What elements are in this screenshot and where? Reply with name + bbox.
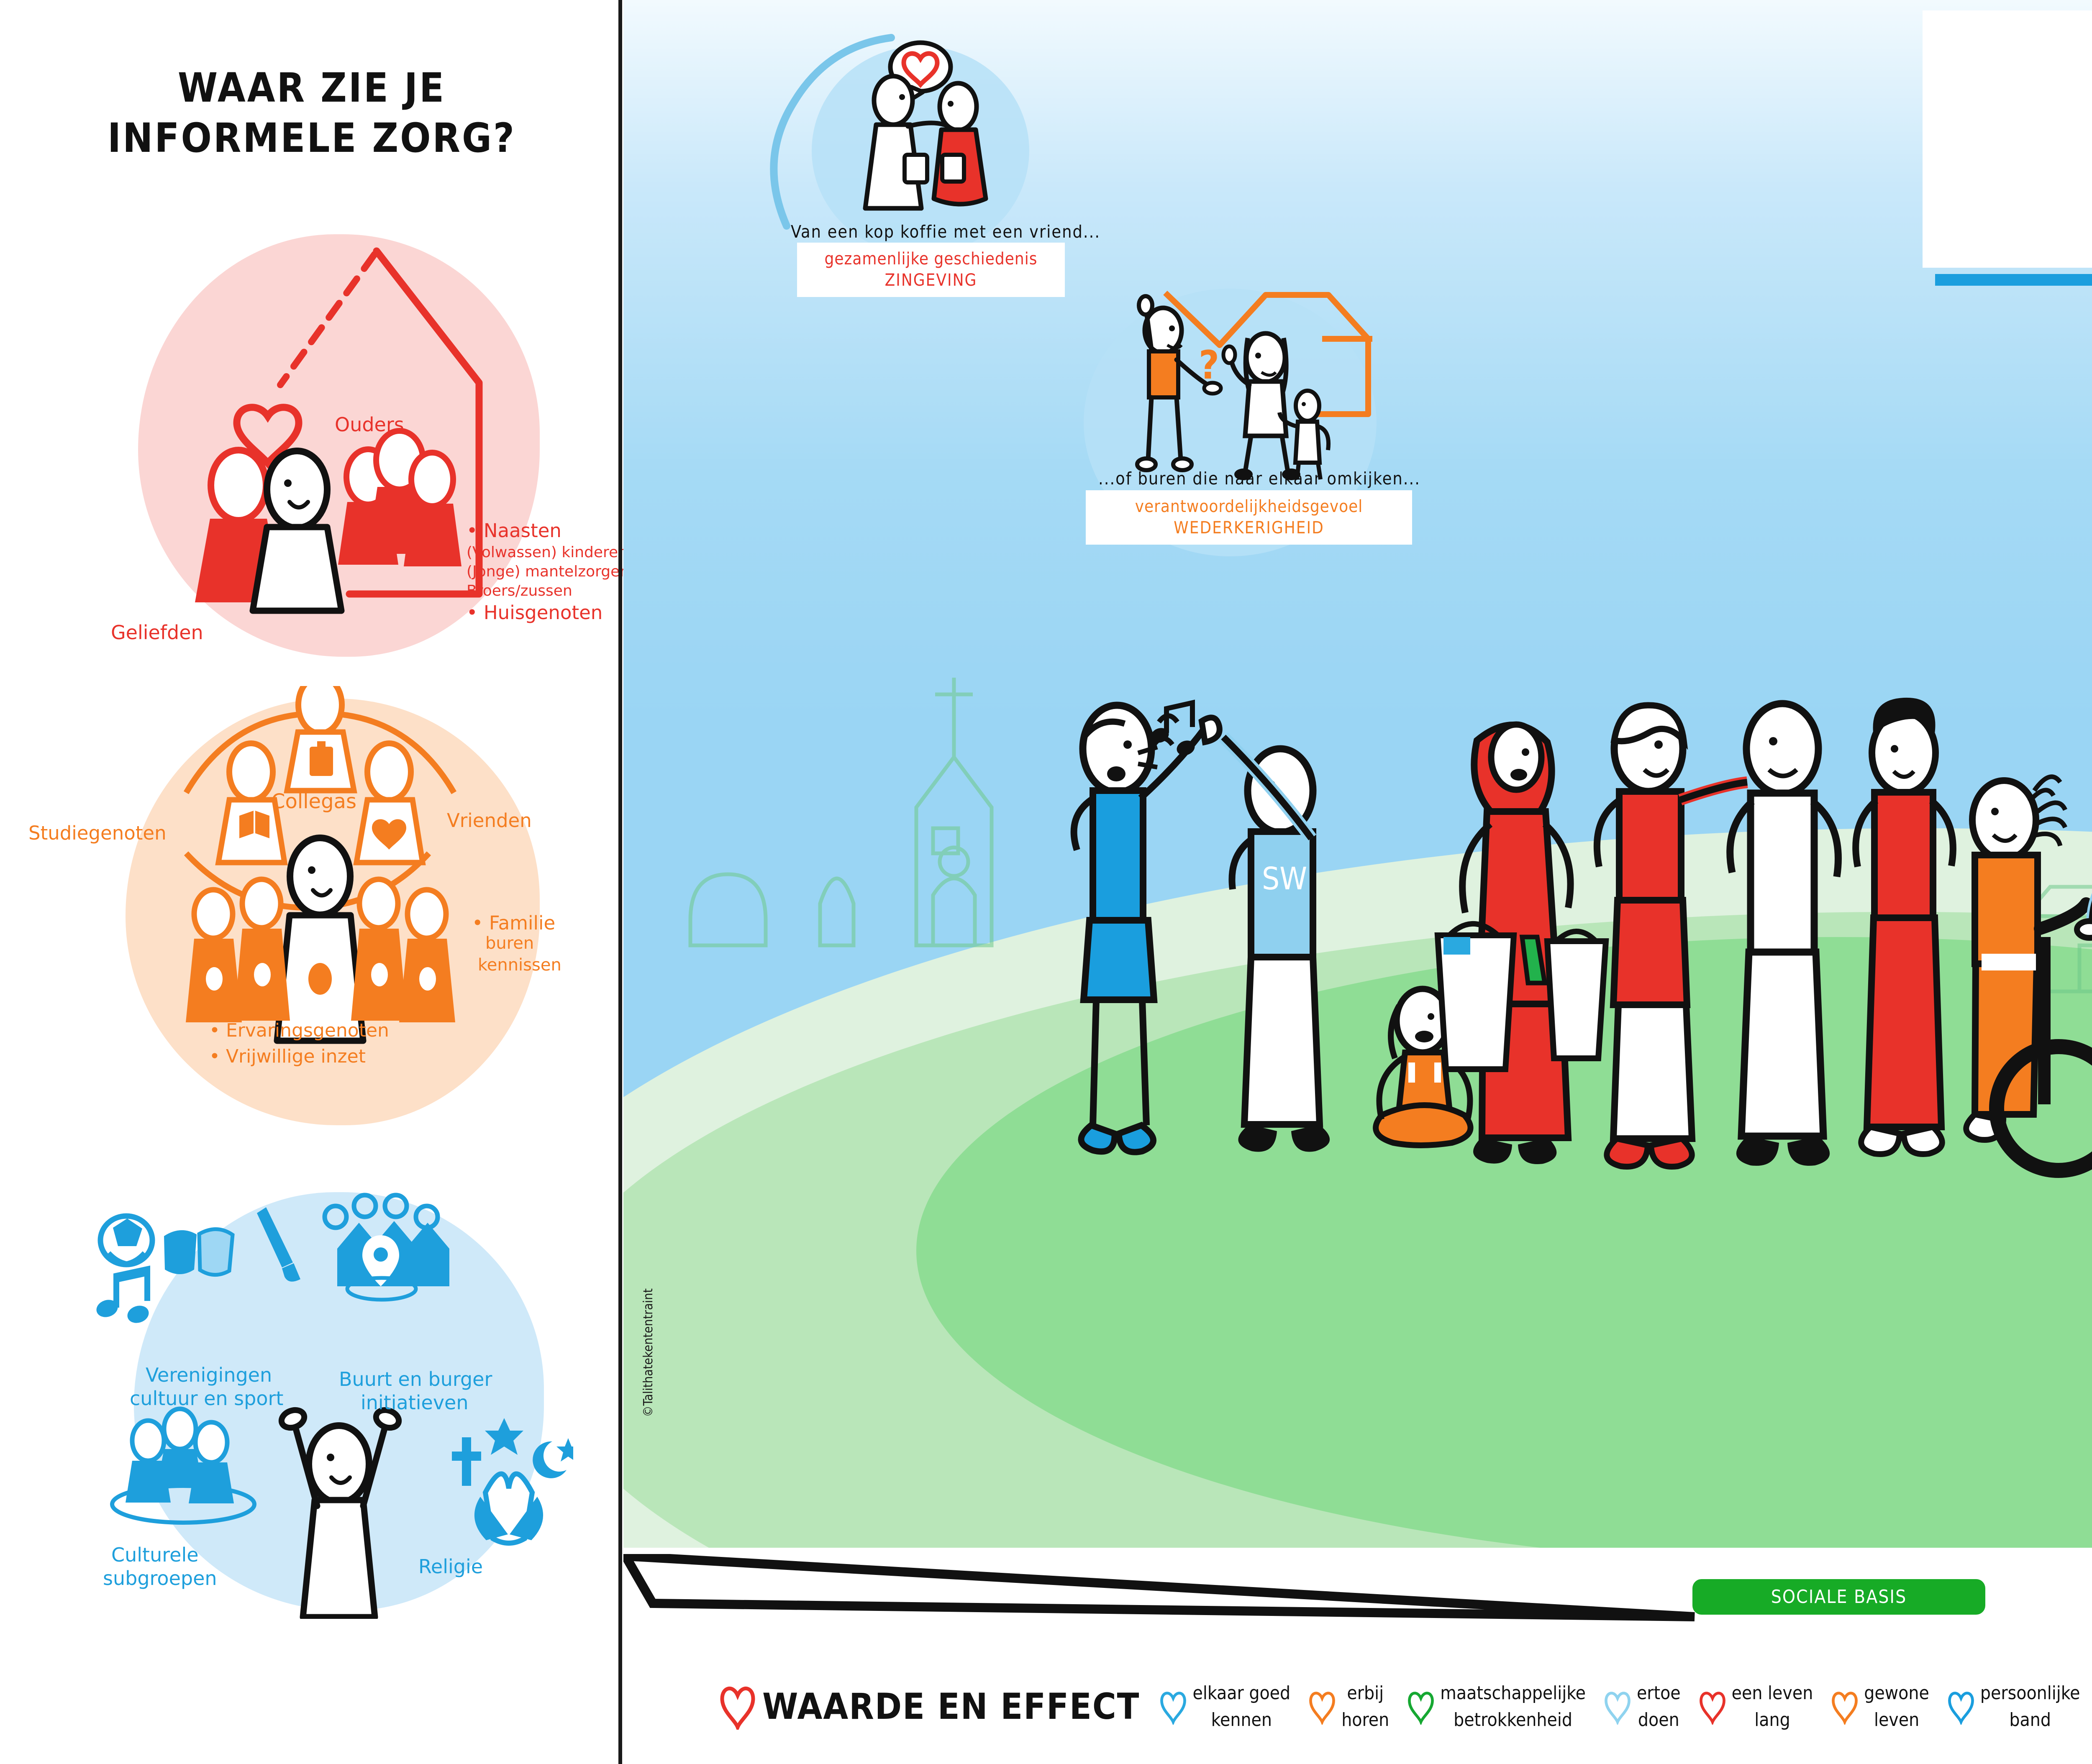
panel-family: Ouders Geliefden • Naasten (Volwassen) k… bbox=[0, 218, 623, 661]
care-forms-row: Mantelzorg Vrijwillige inzet Sociale ste… bbox=[1923, 506, 2092, 548]
scene-coffee-art bbox=[757, 17, 1134, 243]
family-bullet-4: • Huisgenoten bbox=[467, 601, 634, 625]
copyright-notice: ©Talithatekententraint bbox=[641, 1288, 656, 1417]
person-sw-male: SW bbox=[1223, 737, 1330, 1152]
left-heading: WAAR ZIE JE INFORMELE ZORG? bbox=[0, 63, 623, 163]
values-title: WAARDE EN EFFECT bbox=[762, 1686, 1140, 1728]
value-label-2: maatschappelijke betrokkenheid bbox=[1440, 1680, 1586, 1733]
family-bullet-0: • Naasten bbox=[467, 519, 634, 543]
values-row: WAARDE EN EFFECT elkaar goed kennen erbi… bbox=[720, 1665, 2092, 1749]
scene-neighbours-caption: ...of buren die naar elkaar omkijken... bbox=[1050, 469, 1469, 489]
heart-icon-5 bbox=[1831, 1689, 1858, 1725]
label-buren: buren bbox=[485, 934, 534, 953]
value-item-6: persoonlijke band bbox=[1948, 1680, 2080, 1733]
infographic-root: WAAR ZIE JE INFORMELE ZORG? bbox=[0, 0, 2092, 1764]
heart-icon-0 bbox=[1160, 1689, 1187, 1725]
subtitle-line-3: Niet vanuit een beroep bbox=[1923, 413, 2092, 455]
panel-community: Verenigingen cultuur en sport Buurt en b… bbox=[0, 1155, 623, 1623]
person-red-hijab bbox=[1438, 725, 1606, 1164]
person-curly-red bbox=[1856, 698, 1953, 1154]
label-culturele-l2: subgroepen bbox=[103, 1567, 217, 1590]
value-item-2: maatschappelijke betrokkenheid bbox=[1407, 1680, 1586, 1733]
scene-coffee-box: gezamenlijke geschiedenis ZINGEVING bbox=[797, 243, 1065, 297]
value-label-1: erbij horen bbox=[1341, 1680, 1389, 1733]
label-verenigingen-l2: cultuur en sport bbox=[130, 1387, 283, 1410]
value-label-6: persoonlijke band bbox=[1980, 1680, 2080, 1733]
label-verenigingen-l1: Verenigingen bbox=[146, 1364, 272, 1386]
label-ouders: Ouders bbox=[335, 413, 404, 436]
label-collegas: Collegas bbox=[271, 790, 356, 813]
value-label-4: een leven lang bbox=[1732, 1680, 1813, 1733]
people-group: SW bbox=[1054, 686, 2092, 1293]
subtitle-block: Zorg en Ondersteuning Onbetaald Niet van… bbox=[1923, 330, 2092, 455]
sociale-basis-button[interactable]: SOCIALE BASIS bbox=[1692, 1579, 1985, 1615]
social-bullet-1: • Ervaringsgenoten bbox=[209, 1020, 389, 1041]
label-religie: Religie bbox=[418, 1555, 483, 1578]
value-item-1: erbij horen bbox=[1309, 1680, 1389, 1733]
label-buurt-l1: Buurt en burger bbox=[339, 1368, 492, 1390]
panel-social: Collegas Studiegenoten Vrienden • Famili… bbox=[0, 686, 623, 1129]
value-label-0: elkaar goed kennen bbox=[1192, 1680, 1290, 1733]
label-geliefden: Geliefden bbox=[111, 621, 203, 644]
title-card-shadow bbox=[1935, 274, 2092, 286]
subtitle-line-2: Onbetaald bbox=[1923, 372, 2092, 413]
label-familie: • Familie bbox=[472, 912, 555, 934]
family-bullet-1: (Volwassen) kinderen bbox=[467, 543, 634, 562]
scene-coffee-line-2: ZINGEVING bbox=[808, 269, 1054, 291]
svg-text:SW: SW bbox=[1262, 861, 1307, 897]
heart-icon-title bbox=[720, 1684, 756, 1730]
person-tall-white bbox=[1730, 704, 1838, 1166]
scene-coffee-caption: Van een kop koffie met een vriend... bbox=[757, 222, 1134, 242]
value-label-3: ertoe doen bbox=[1637, 1680, 1681, 1733]
subtitle-line-1: Zorg en Ondersteuning bbox=[1923, 330, 2092, 372]
heart-icon-1 bbox=[1309, 1689, 1336, 1725]
social-bullet-2: • Vrijwillige inzet bbox=[209, 1046, 366, 1067]
scene-coffee: Van een kop koffie met een vriend... gez… bbox=[757, 25, 1134, 276]
person-wheelchair bbox=[1966, 777, 2092, 1170]
page-title: INFORMELE ZORG bbox=[1923, 52, 2092, 115]
title-card: INFORMELE ZORG U HOGESCHOOL UTRECHT bbox=[1923, 10, 2092, 268]
value-item-0: elkaar goed kennen bbox=[1160, 1680, 1290, 1733]
left-heading-line2: INFORMELE ZORG? bbox=[0, 113, 623, 163]
scene-coffee-line-1: gezamenlijke geschiedenis bbox=[808, 248, 1054, 269]
main-panel: INFORMELE ZORG U HOGESCHOOL UTRECHT Zorg… bbox=[623, 0, 2092, 1573]
value-label-5: gewone leven bbox=[1864, 1680, 1929, 1733]
person-singer bbox=[1074, 703, 1220, 1152]
label-vrienden: Vrienden bbox=[447, 809, 532, 832]
scene-neighbours: ? ...of buren di bbox=[1054, 259, 1473, 552]
value-item-5: gewone leven bbox=[1831, 1680, 1929, 1733]
person-red-shirt bbox=[1597, 705, 1747, 1167]
label-buurt-l2: initiatieven bbox=[361, 1391, 469, 1414]
left-heading-line1: WAAR ZIE JE bbox=[0, 63, 623, 113]
label-kennissen: kennissen bbox=[478, 955, 561, 975]
value-item-4: een leven lang bbox=[1699, 1680, 1813, 1733]
left-column: WAAR ZIE JE INFORMELE ZORG? bbox=[0, 0, 623, 1764]
scene-neighbours-line-1: verantwoordelijkheidsgevoel bbox=[1097, 496, 1401, 517]
family-bullet-3: Broers/zussen bbox=[467, 581, 634, 601]
person-sw-female: SW bbox=[2077, 766, 2092, 1173]
scene-neighbours-line-2: WEDERKERIGHEID bbox=[1097, 517, 1401, 539]
heart-icon-2 bbox=[1407, 1689, 1434, 1725]
heart-icon-4 bbox=[1699, 1689, 1726, 1725]
heart-icon-6 bbox=[1948, 1689, 1974, 1725]
vertical-divider bbox=[618, 0, 622, 1764]
svg-text:?: ? bbox=[1199, 343, 1219, 388]
label-studiegenoten: Studiegenoten bbox=[28, 822, 167, 844]
scene-neighbours-box: verantwoordelijkheidsgevoel WEDERKERIGHE… bbox=[1086, 490, 1412, 545]
heart-icon-3 bbox=[1604, 1689, 1631, 1725]
family-bullet-2: (Jonge) mantelzorgers bbox=[467, 562, 634, 581]
label-culturele-l1: Culturele bbox=[111, 1544, 199, 1566]
value-item-3: ertoe doen bbox=[1604, 1680, 1681, 1733]
